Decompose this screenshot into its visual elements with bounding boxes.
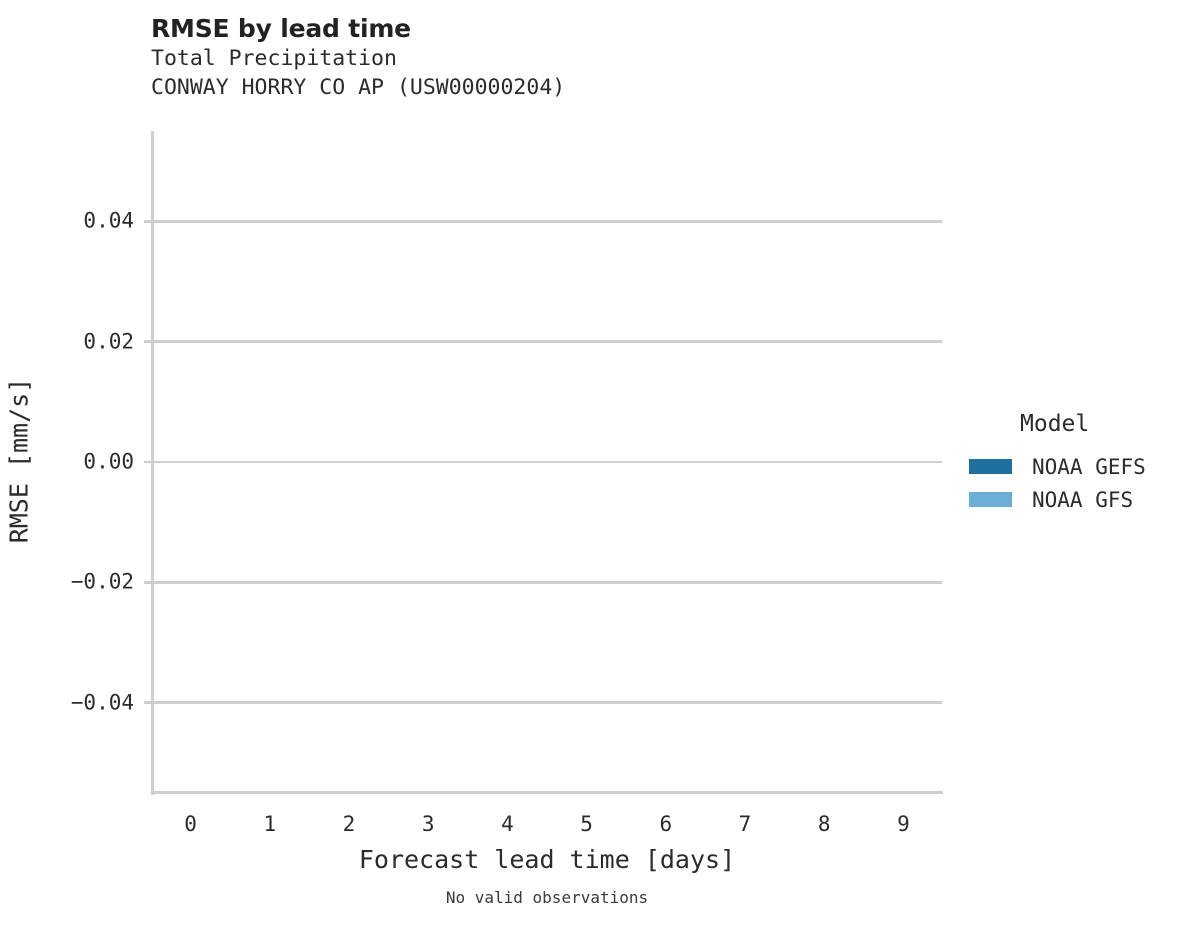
y-tick-mark <box>144 701 151 704</box>
legend-color-swatch <box>969 492 1012 507</box>
axis-spine-bottom <box>151 791 943 794</box>
gridline-horizontal <box>151 340 942 343</box>
x-tick-label: 2 <box>343 812 356 836</box>
legend: Model NOAA GEFSNOAA GFS <box>969 410 1182 516</box>
x-tick-label: 6 <box>659 812 672 836</box>
legend-color-swatch <box>969 459 1012 474</box>
gridline-horizontal <box>151 220 942 223</box>
no-data-annotation: No valid observations <box>151 888 943 907</box>
y-tick-label: −0.04 <box>71 692 134 713</box>
legend-item[interactable]: NOAA GFS <box>969 483 1182 516</box>
y-tick-mark <box>144 340 151 343</box>
gridline-horizontal <box>151 581 942 584</box>
gridline-horizontal <box>151 701 942 704</box>
y-tick-label: 0.02 <box>83 331 134 352</box>
legend-items: NOAA GEFSNOAA GFS <box>969 450 1182 516</box>
gridline-horizontal <box>151 461 942 464</box>
y-tick-label: 0.00 <box>83 452 134 473</box>
y-tick-mark <box>144 461 151 464</box>
x-tick-label: 8 <box>818 812 831 836</box>
x-tick-label: 4 <box>501 812 514 836</box>
y-axis-title: RMSE [mm/s] <box>5 211 34 711</box>
y-tick-label: 0.04 <box>83 211 134 232</box>
title-block: RMSE by lead time Total Precipitation CO… <box>151 14 951 102</box>
x-axis-title: Forecast lead time [days] <box>151 845 943 874</box>
chart-subtitle-variable: Total Precipitation <box>151 44 951 73</box>
chart-figure: RMSE by lead time Total Precipitation CO… <box>0 0 1182 928</box>
x-tick-label: 9 <box>897 812 910 836</box>
legend-title: Model <box>1020 410 1182 438</box>
x-tick-label: 7 <box>739 812 752 836</box>
legend-item[interactable]: NOAA GEFS <box>969 450 1182 483</box>
x-tick-label: 1 <box>263 812 276 836</box>
legend-item-label: NOAA GFS <box>1032 488 1133 512</box>
y-tick-label: −0.02 <box>71 572 134 593</box>
chart-subtitle-station: CONWAY HORRY CO AP (USW00000204) <box>151 73 951 102</box>
y-tick-mark <box>144 220 151 223</box>
y-tick-mark <box>144 581 151 584</box>
page-title: RMSE by lead time <box>151 14 951 44</box>
x-tick-label: 0 <box>184 812 197 836</box>
x-tick-label: 3 <box>422 812 435 836</box>
x-tick-label: 5 <box>580 812 593 836</box>
legend-item-label: NOAA GEFS <box>1032 455 1146 479</box>
